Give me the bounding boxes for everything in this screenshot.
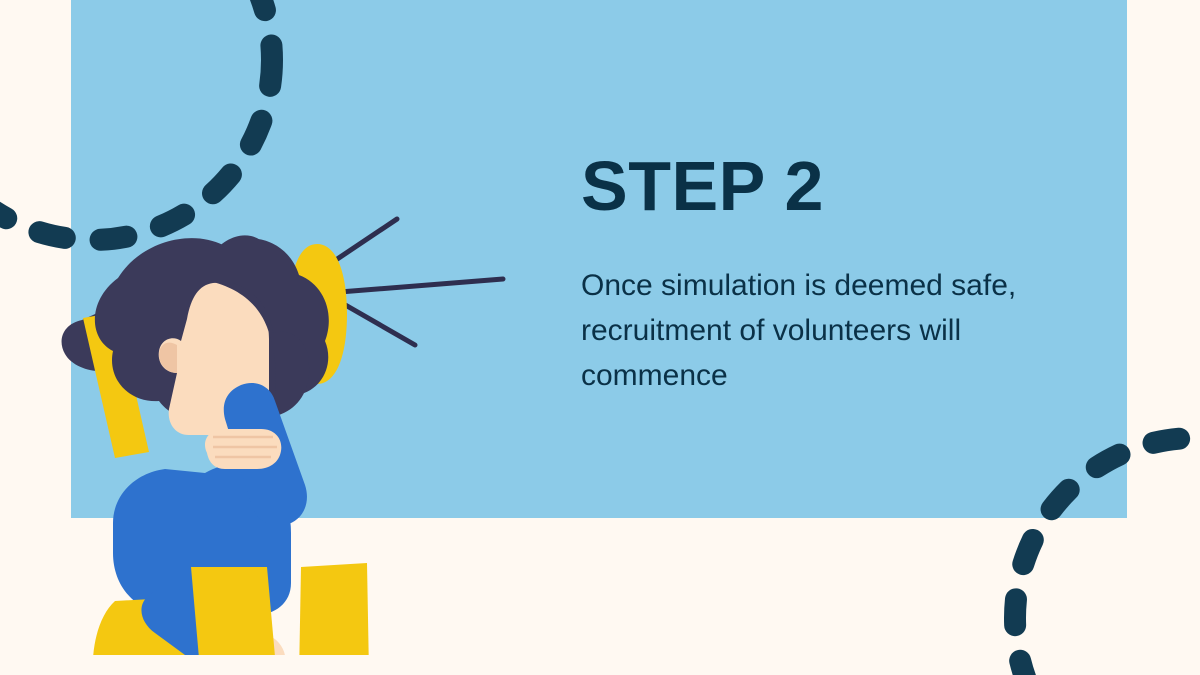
woman-with-megaphone-illustration bbox=[55, 185, 555, 655]
trouser-leg-right-icon bbox=[299, 563, 369, 655]
hand-icon bbox=[205, 429, 281, 469]
slide-body-text: Once simulation is deemed safe, recruitm… bbox=[581, 222, 1091, 398]
trouser-leg-left-icon bbox=[191, 567, 277, 655]
slide-canvas: STEP 2 Once simulation is deemed safe, r… bbox=[0, 0, 1200, 675]
page-title: STEP 2 bbox=[581, 150, 1101, 222]
text-block: STEP 2 Once simulation is deemed safe, r… bbox=[581, 150, 1101, 398]
